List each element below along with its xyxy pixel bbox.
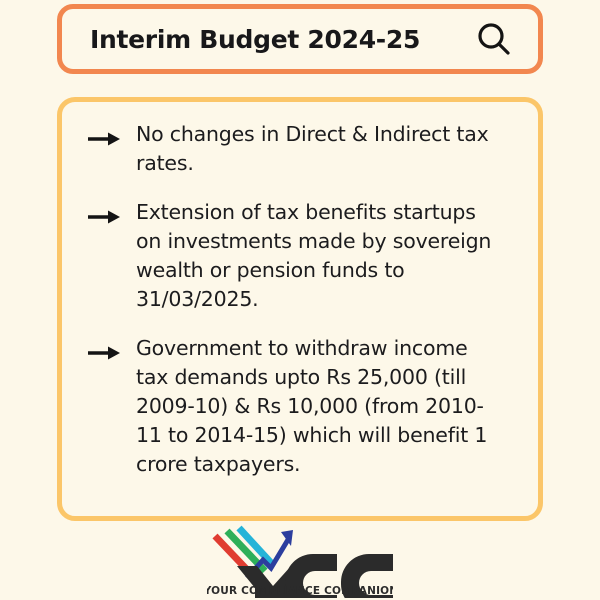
title-bar: Interim Budget 2024-25	[57, 4, 543, 74]
list-item-label: Government to withdraw income tax demand…	[136, 334, 496, 479]
page-title: Interim Budget 2024-25	[90, 27, 420, 52]
poster-canvas: Interim Budget 2024-25 No changes in Dir…	[0, 0, 600, 600]
list-item-label: Extension of tax benefits startups on in…	[136, 198, 496, 314]
ycc-logo-icon: YOUR COMPLIANCE COMPANION	[207, 524, 393, 598]
arrow-right-icon	[86, 340, 122, 366]
arrow-right-icon	[86, 204, 122, 230]
list-item: Extension of tax benefits startups on in…	[86, 198, 522, 314]
budget-highlights-list: No changes in Direct & Indirect tax rate…	[86, 120, 522, 479]
list-item-label: No changes in Direct & Indirect tax rate…	[136, 120, 496, 178]
list-item: Government to withdraw income tax demand…	[86, 334, 522, 479]
brand-logo: YOUR COMPLIANCE COMPANION	[0, 524, 600, 598]
search-icon[interactable]	[474, 19, 514, 59]
arrow-right-icon	[86, 126, 122, 152]
list-item: No changes in Direct & Indirect tax rate…	[86, 120, 522, 178]
logo-tagline: YOUR COMPLIANCE COMPANION	[207, 585, 393, 597]
content-card: No changes in Direct & Indirect tax rate…	[57, 97, 543, 521]
